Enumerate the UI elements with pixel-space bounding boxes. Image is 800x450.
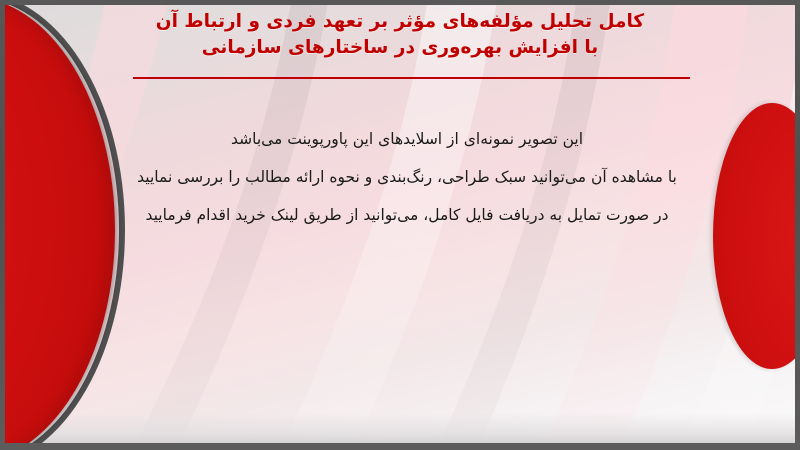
slide-content: کامل تحلیل مؤلفه‌های مؤثر بر تعهد فردی و…: [0, 0, 800, 450]
slide-title: کامل تحلیل مؤلفه‌های مؤثر بر تعهد فردی و…: [0, 9, 800, 61]
body-line-3: در صورت تمایل به دریافت فایل کامل، می‌تو…: [110, 196, 704, 234]
title-line-2: با افزایش بهره‌وری در ساختارهای سازمانی: [110, 35, 690, 61]
body-line-1: این تصویر نمونه‌ای از اسلایدهای این پاور…: [110, 120, 704, 158]
body-line-2: با مشاهده آن می‌توانید سبک طراحی، رنگ‌بن…: [110, 158, 704, 196]
title-underline-rule: [133, 77, 690, 79]
title-line-1: کامل تحلیل مؤلفه‌های مؤثر بر تعهد فردی و…: [110, 9, 690, 35]
slide-body: این تصویر نمونه‌ای از اسلایدهای این پاور…: [0, 120, 800, 234]
presentation-slide: کامل تحلیل مؤلفه‌های مؤثر بر تعهد فردی و…: [0, 0, 800, 450]
